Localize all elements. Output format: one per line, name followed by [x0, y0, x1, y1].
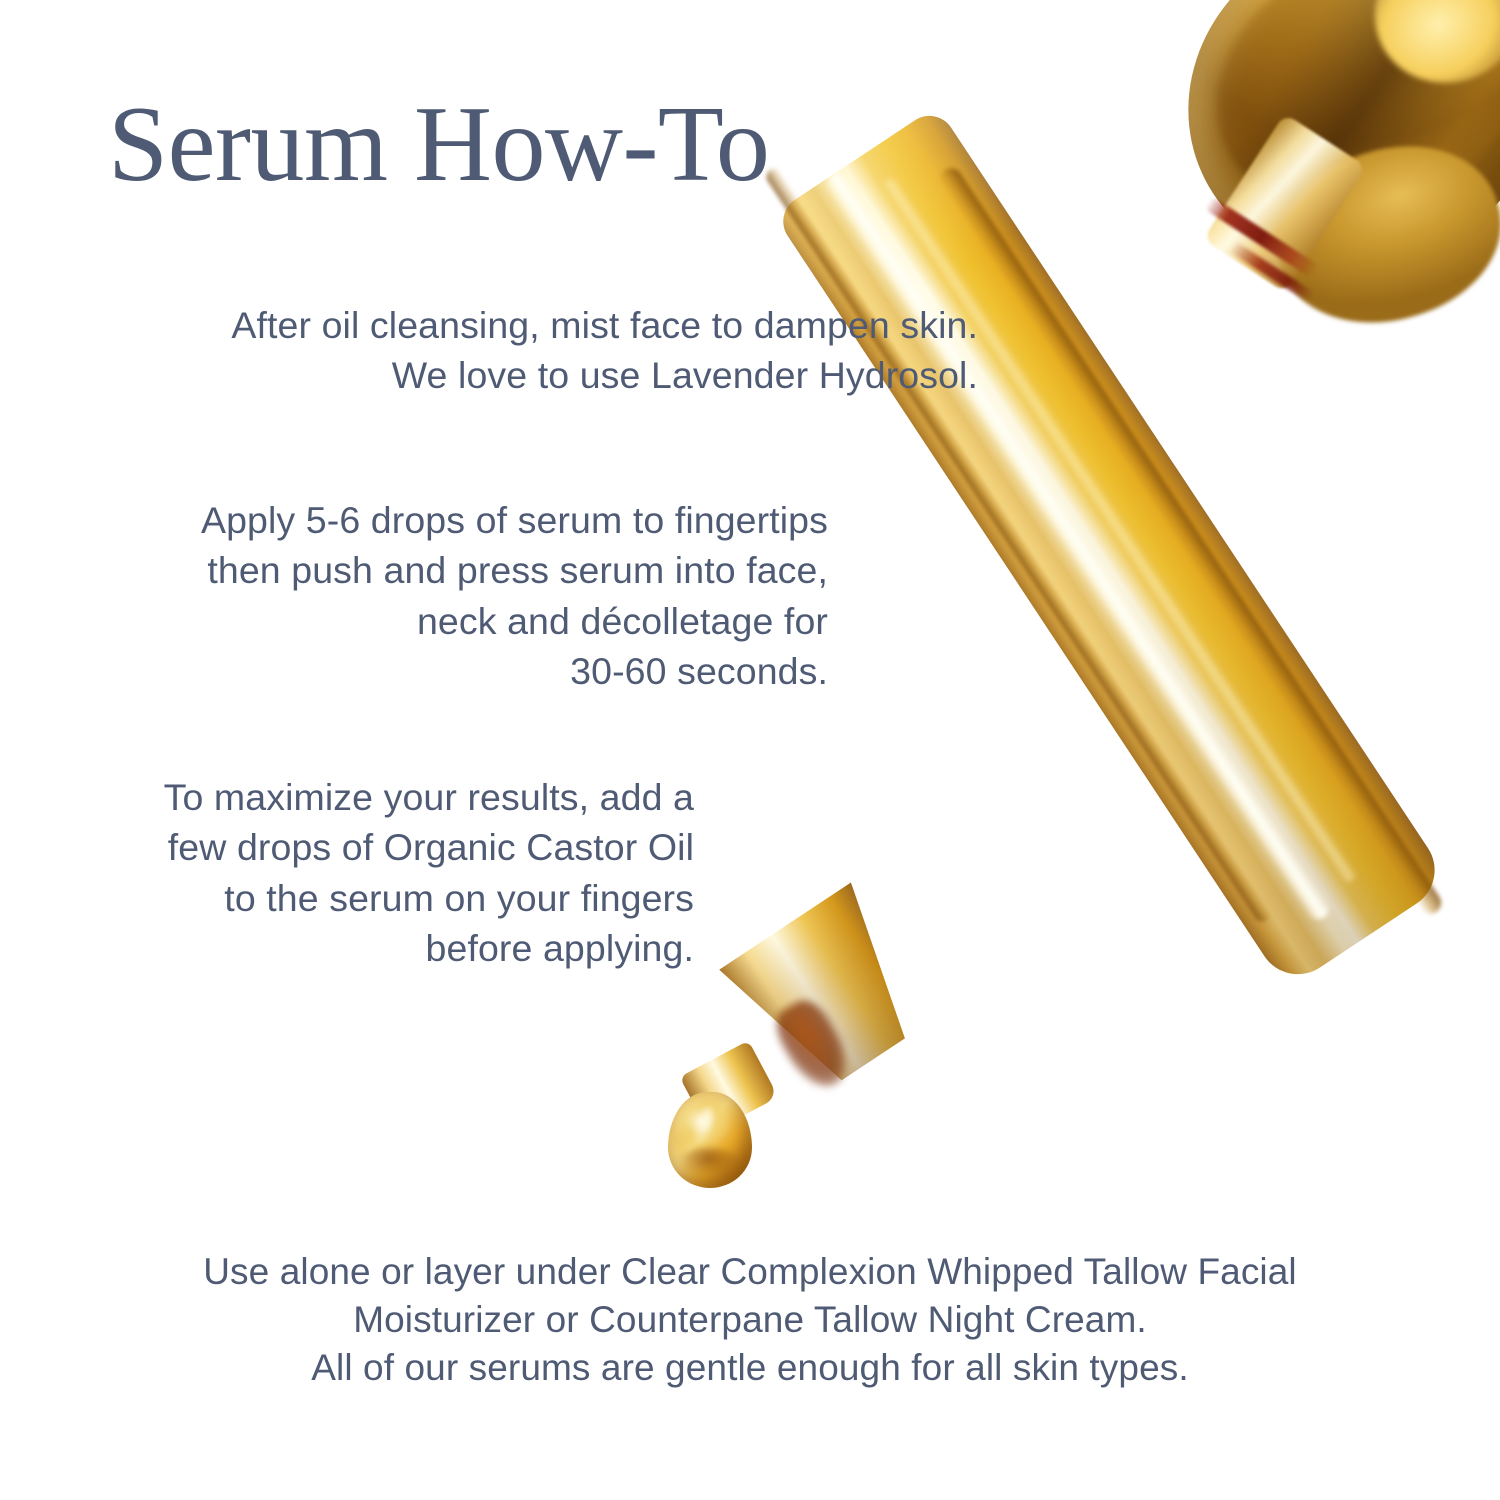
instruction-step-3: To maximize your results, add a few drop…	[0, 772, 694, 973]
page-title: Serum How-To	[108, 88, 769, 201]
text-content-layer: Serum How-To After oil cleansing, mist f…	[0, 0, 1500, 1500]
instruction-step-2: Apply 5-6 drops of serum to fingertips t…	[0, 495, 828, 696]
serum-how-to-graphic: Serum How-To After oil cleansing, mist f…	[0, 0, 1500, 1500]
footer-note: Use alone or layer under Clear Complexio…	[0, 1248, 1500, 1392]
instruction-step-1: After oil cleansing, mist face to dampen…	[0, 300, 978, 401]
